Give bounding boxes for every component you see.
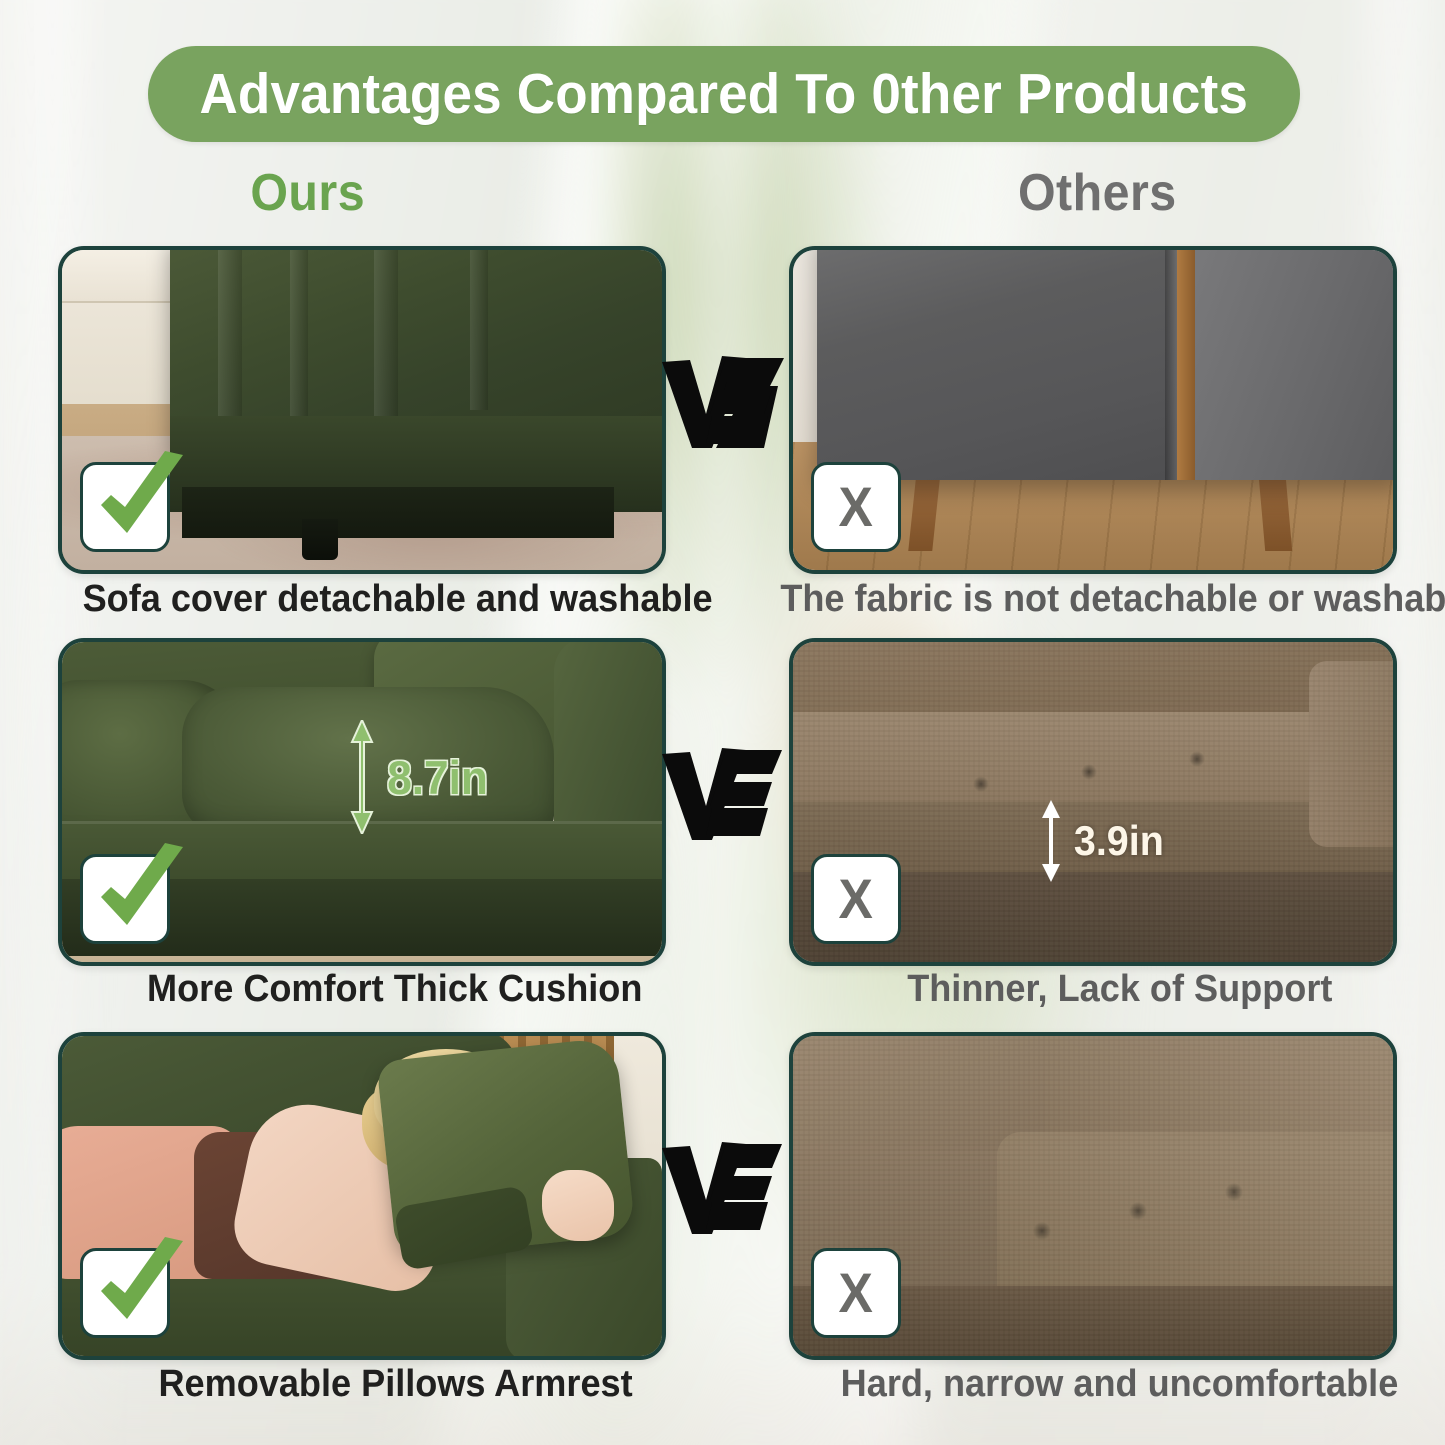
x-icon: X (839, 479, 873, 535)
page-title: Advantages Compared To 0ther Products (200, 61, 1249, 127)
header-banner: Advantages Compared To 0ther Products (148, 46, 1300, 142)
photo-fold-2 (290, 250, 308, 423)
caption-others-row3: Hard, narrow and uncomfortable (841, 1363, 1399, 1406)
caption-others-row2: Thinner, Lack of Support (907, 968, 1332, 1011)
panel-others-row2[interactable]: 3.9in X (789, 638, 1397, 966)
x-icon: X (839, 871, 873, 927)
panel-others-row3[interactable]: X (789, 1032, 1397, 1360)
dimension-annotation-ours-row2: 8.7in (348, 720, 491, 834)
check-icon (87, 451, 195, 553)
panel-ours-row2[interactable]: 8.7in (58, 638, 666, 966)
photo-sofa-leg (302, 519, 338, 561)
caption-ours-row1: Sofa cover detachable and washable (83, 578, 713, 621)
vs-badge-row3 (660, 1138, 786, 1234)
column-heading-others: Others (1018, 163, 1177, 223)
badge-check-row1-ours (80, 462, 170, 552)
dimension-annotation-others-row2: 3.9in (1039, 800, 1167, 882)
badge-check-row3-ours (80, 1248, 170, 1338)
panel-ours-row1[interactable] (58, 246, 666, 574)
photo-sofa-trim (1177, 250, 1195, 480)
check-icon (87, 1237, 195, 1339)
vs-badge-row2 (660, 744, 786, 840)
x-icon: X (839, 1265, 873, 1321)
caption-ours-row3: Removable Pillows Armrest (158, 1363, 632, 1406)
dimension-value: 3.9in (1074, 820, 1164, 862)
photo-person-hand (542, 1170, 614, 1240)
photo-sofa-base (182, 487, 614, 538)
photo-sofa-seam (1165, 250, 1177, 480)
photo-fold-4 (470, 250, 488, 410)
photo-fold-3 (374, 250, 398, 416)
badge-x-row3-others: X (811, 1248, 901, 1338)
panel-ours-row3[interactable] (58, 1032, 666, 1360)
photo-sofa-side (1189, 250, 1393, 480)
panel-others-row1[interactable]: X (789, 246, 1397, 574)
dimension-value: 8.7in (387, 754, 488, 801)
vs-badge-row1 (660, 352, 786, 448)
caption-others-row1: The fabric is not detachable or washable (780, 578, 1445, 621)
check-icon (87, 843, 195, 945)
double-arrow-icon (1039, 800, 1063, 882)
badge-x-row1-others: X (811, 462, 901, 552)
double-arrow-icon (348, 720, 376, 834)
photo-fold-1 (218, 250, 242, 429)
column-heading-ours: Ours (250, 163, 365, 223)
caption-ours-row2: More Comfort Thick Cushion (147, 968, 642, 1011)
badge-x-row2-others: X (811, 854, 901, 944)
badge-check-row2-ours (80, 854, 170, 944)
